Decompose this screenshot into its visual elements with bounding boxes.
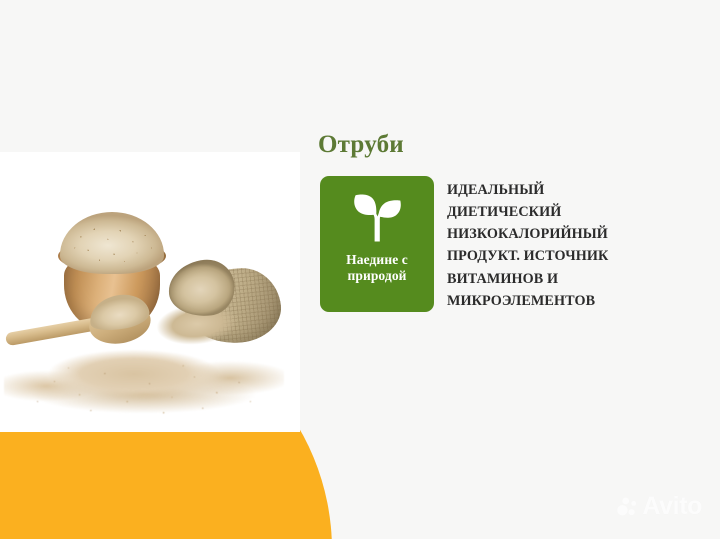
page-title: Отруби bbox=[318, 131, 404, 159]
clay-pot-rim bbox=[58, 240, 166, 272]
nature-badge: Наедине с природой bbox=[320, 176, 434, 312]
description-line: ВИТАМИНОВ И bbox=[447, 268, 677, 290]
description-line: ИДЕАЛЬНЫЙ bbox=[447, 179, 677, 201]
product-description: ИДЕАЛЬНЫЙ ДИЕТИЧЕСКИЙ НИЗКОКАЛОРИЙНЫЙ ПР… bbox=[447, 179, 677, 312]
avito-logo-icon bbox=[616, 496, 638, 518]
burlap-sack-graphic bbox=[163, 246, 284, 353]
nature-badge-caption-line-1: Наедине с bbox=[346, 252, 408, 267]
sprout-icon bbox=[352, 190, 402, 242]
avito-watermark: Avito bbox=[616, 494, 702, 519]
description-line: ДИЕТИЧЕСКИЙ bbox=[447, 201, 677, 223]
product-photo bbox=[0, 152, 300, 432]
product-photo-panel bbox=[0, 152, 300, 432]
nature-badge-caption-line-2: природой bbox=[347, 268, 406, 283]
avito-watermark-label: Avito bbox=[642, 494, 702, 519]
description-line: НИЗКОКАЛОРИЙНЫЙ bbox=[447, 223, 677, 245]
nature-badge-caption: Наедине с природой bbox=[340, 252, 414, 285]
description-line: ПРОДУКТ. ИСТОЧНИК bbox=[447, 245, 677, 267]
description-line: МИКРОЭЛЕМЕНТОВ bbox=[447, 290, 677, 312]
product-banner: Отруби Наедине с природой ИДЕАЛЬНЫЙ ДИЕТ… bbox=[0, 0, 720, 539]
clay-pot-bran-fill bbox=[60, 212, 164, 274]
